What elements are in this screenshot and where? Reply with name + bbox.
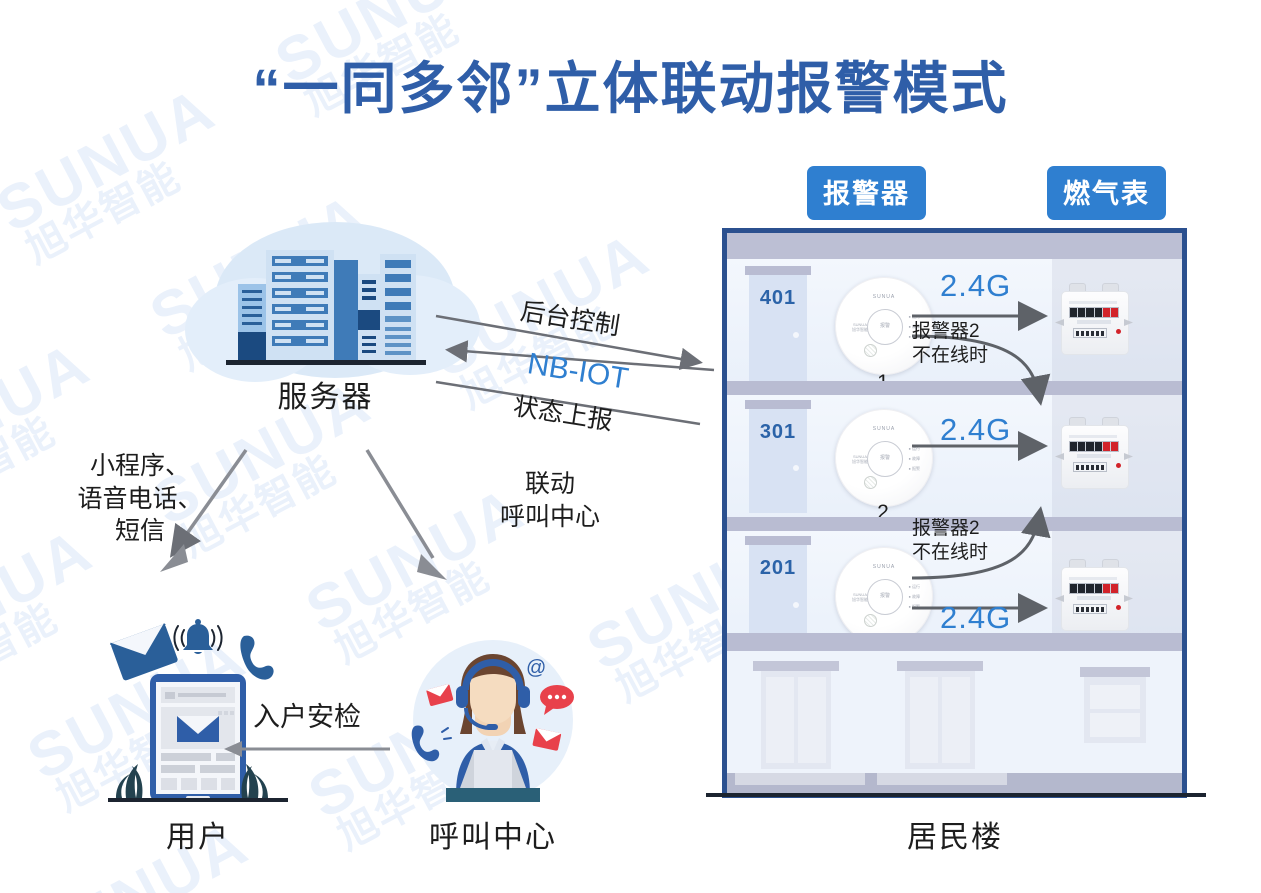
radio-label-201: 2.4G bbox=[940, 600, 1011, 636]
arrow-server-to-center bbox=[355, 440, 465, 590]
user-label: 用户 bbox=[98, 812, 298, 856]
fallback-label-201: 报警器2 不在线时 bbox=[912, 517, 988, 565]
server-icon bbox=[218, 232, 433, 377]
link-center-label: 联动 呼叫中心 bbox=[460, 468, 640, 533]
fallback-label-401: 报警器2 不在线时 bbox=[912, 320, 988, 368]
badge-meter: 燃气表 bbox=[1047, 166, 1166, 220]
link-center-line1: 联动 bbox=[460, 468, 640, 501]
plant-left bbox=[116, 764, 143, 798]
link-user-notify-label: 小程序、 语音电话、 短信 bbox=[40, 450, 240, 548]
inspection-label: 入户安检 bbox=[222, 700, 392, 735]
watermark: SUNUA旭华智能 bbox=[0, 519, 118, 714]
at-icon: @ bbox=[526, 657, 546, 679]
svg-text:@: @ bbox=[526, 657, 546, 679]
radio-links bbox=[722, 228, 1192, 803]
server-label: 服务器 bbox=[218, 372, 433, 416]
link-center-line2: 呼叫中心 bbox=[460, 501, 640, 534]
link-user-notify-line1: 小程序、 bbox=[40, 450, 240, 483]
bell-icon bbox=[174, 619, 221, 654]
radio-label-301: 2.4G bbox=[940, 412, 1011, 448]
diagram-canvas: SUNUA旭华智能 SUNUA旭华智能 SUNUA旭华智能 SUNUA旭华智能 … bbox=[0, 0, 1261, 893]
call-center-agent-icon: @ bbox=[398, 628, 588, 808]
building-label: 居民楼 bbox=[855, 812, 1055, 856]
phone-icon bbox=[240, 636, 273, 680]
page-title: “一同多邻”立体联动报警模式 bbox=[0, 44, 1261, 125]
badge-alarm: 报警器 bbox=[807, 166, 926, 220]
link-user-notify-line2: 语音电话、 bbox=[40, 483, 240, 516]
call-center-label: 呼叫中心 bbox=[393, 812, 593, 856]
link-user-notify-line3: 短信 bbox=[40, 515, 240, 548]
mail-icon bbox=[110, 624, 178, 681]
radio-label-401: 2.4G bbox=[940, 268, 1011, 304]
arrow-inspection bbox=[222, 736, 392, 762]
